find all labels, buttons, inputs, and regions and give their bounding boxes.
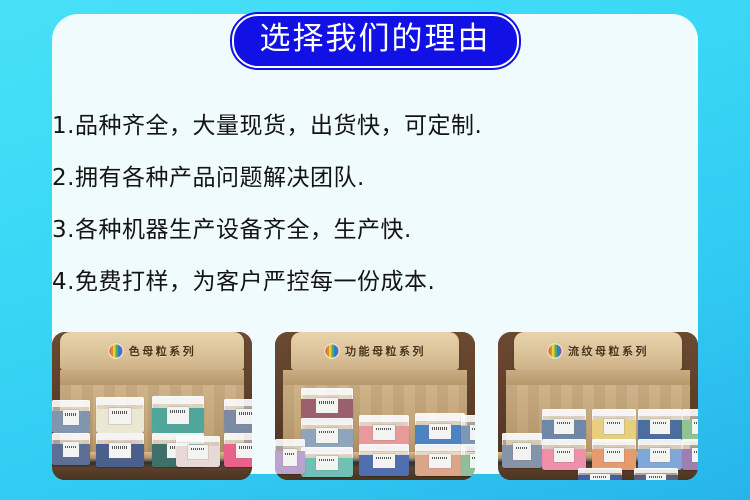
container-lid xyxy=(592,439,636,446)
container-lid xyxy=(224,433,252,440)
pellet-container xyxy=(301,447,353,477)
container-label xyxy=(470,454,475,468)
pellet-container xyxy=(415,413,465,447)
list-item: 2.拥有各种产品问题解决团队. xyxy=(52,152,702,204)
title-container: 选择我们的理由 xyxy=(0,14,750,68)
container-label xyxy=(470,425,475,440)
container-lid xyxy=(275,439,305,447)
container-lid xyxy=(359,444,409,451)
container-label xyxy=(109,443,130,459)
pellet-container xyxy=(461,444,475,475)
list-item: 3.各种机器生产设备齐全，生产快. xyxy=(52,204,702,256)
container-label xyxy=(63,410,80,425)
container-lid xyxy=(415,413,465,420)
series-label: 功能母粒系列 xyxy=(345,343,426,359)
pellet-container xyxy=(638,439,682,470)
pellet-container xyxy=(638,409,682,442)
list-item: 1.品种齐全，大量现货，出货快，可定制. xyxy=(52,100,702,152)
pellet-container xyxy=(682,409,698,442)
pellet-container xyxy=(176,436,220,467)
container-lid xyxy=(682,409,698,416)
container-label xyxy=(316,398,339,413)
shelf-panel xyxy=(283,370,467,385)
container-lid xyxy=(542,409,586,416)
rainbow-circle-logo xyxy=(324,343,340,359)
container-label xyxy=(373,425,395,440)
container-label xyxy=(692,448,698,462)
pellet-container xyxy=(542,409,586,442)
container-label xyxy=(188,445,207,459)
promo-banner: 选择我们的理由 1.品种齐全，大量现货，出货快，可定制. 2.拥有各种产品问题解… xyxy=(0,0,750,500)
rainbow-circle-logo xyxy=(108,343,124,359)
container-label xyxy=(604,448,623,462)
container-label xyxy=(109,408,130,424)
container-lid xyxy=(359,415,409,422)
product-photo: 功能母粒系列 xyxy=(275,332,475,480)
pellet-container xyxy=(52,400,90,433)
container-label xyxy=(429,454,451,468)
container-lid xyxy=(461,444,475,451)
container-lid xyxy=(176,436,220,443)
pellet-container xyxy=(275,439,305,475)
container-label xyxy=(604,419,623,434)
pellet-container xyxy=(96,433,144,467)
container-label xyxy=(316,428,339,443)
container-lid xyxy=(96,433,144,440)
series-label: 流纹母粒系列 xyxy=(568,343,649,359)
container-lid xyxy=(96,397,144,405)
product-photo-strip: 色母粒系列 功能母粒系列 流纹母粒系列 xyxy=(52,332,698,480)
pellet-container xyxy=(301,418,353,451)
pellet-container xyxy=(592,439,636,470)
product-photo: 流纹母粒系列 xyxy=(498,332,698,480)
container-lid xyxy=(592,409,636,416)
page-title: 选择我们的理由 xyxy=(232,14,519,68)
pellet-container xyxy=(542,439,586,470)
pellet-container xyxy=(359,415,409,448)
container-lid xyxy=(461,415,475,422)
container-label xyxy=(554,419,573,434)
container-lid xyxy=(638,409,682,416)
pellet-container xyxy=(682,439,698,470)
container-label xyxy=(554,448,573,462)
pellet-container xyxy=(152,396,204,433)
container-label xyxy=(646,474,665,480)
pellet-container xyxy=(592,409,636,442)
container-lid xyxy=(682,439,698,446)
container-label xyxy=(590,474,609,480)
reasons-list: 1.品种齐全，大量现货，出货快，可定制. 2.拥有各种产品问题解决团队. 3.各… xyxy=(52,100,702,308)
container-label xyxy=(650,419,669,434)
container-lid xyxy=(502,433,542,441)
pellet-container xyxy=(634,468,678,480)
shelf-panel xyxy=(506,370,690,385)
container-lid xyxy=(301,418,353,425)
shelf-header-board: 功能母粒系列 xyxy=(291,332,459,370)
product-photo: 色母粒系列 xyxy=(52,332,252,480)
shelf-header-board: 流纹母粒系列 xyxy=(514,332,682,370)
list-item: 4.免费打样，为客户严控每一份成本. xyxy=(52,256,702,308)
pellet-container xyxy=(415,444,465,475)
container-label xyxy=(650,448,669,462)
pellet-container xyxy=(52,433,90,466)
pellet-container xyxy=(578,468,622,480)
container-label xyxy=(373,454,395,468)
container-lid xyxy=(415,444,465,451)
pellet-container xyxy=(224,399,252,433)
container-lid xyxy=(578,468,622,473)
container-lid xyxy=(224,399,252,406)
container-lid xyxy=(301,447,353,454)
container-label xyxy=(283,449,296,465)
shelf-panel xyxy=(60,370,244,385)
container-label xyxy=(236,409,252,425)
container-lid xyxy=(301,388,353,395)
container-label xyxy=(167,407,190,424)
container-lid xyxy=(152,396,204,404)
pellet-container xyxy=(502,433,542,469)
container-label xyxy=(316,456,339,470)
container-lid xyxy=(634,468,678,473)
container-label xyxy=(236,443,252,459)
container-label xyxy=(692,419,698,434)
shelf-header-board: 色母粒系列 xyxy=(60,332,244,370)
container-lid xyxy=(542,439,586,446)
container-label xyxy=(429,424,451,440)
pellet-container xyxy=(461,415,475,448)
container-lid xyxy=(638,439,682,446)
pellet-container xyxy=(359,444,409,475)
pellet-container xyxy=(301,388,353,421)
container-lid xyxy=(52,400,90,407)
pellet-container xyxy=(96,397,144,433)
rainbow-circle-logo xyxy=(547,343,563,359)
pellet-container xyxy=(224,433,252,467)
container-label xyxy=(513,443,531,459)
series-label: 色母粒系列 xyxy=(129,343,197,359)
container-label xyxy=(63,442,80,457)
container-lid xyxy=(52,433,90,440)
